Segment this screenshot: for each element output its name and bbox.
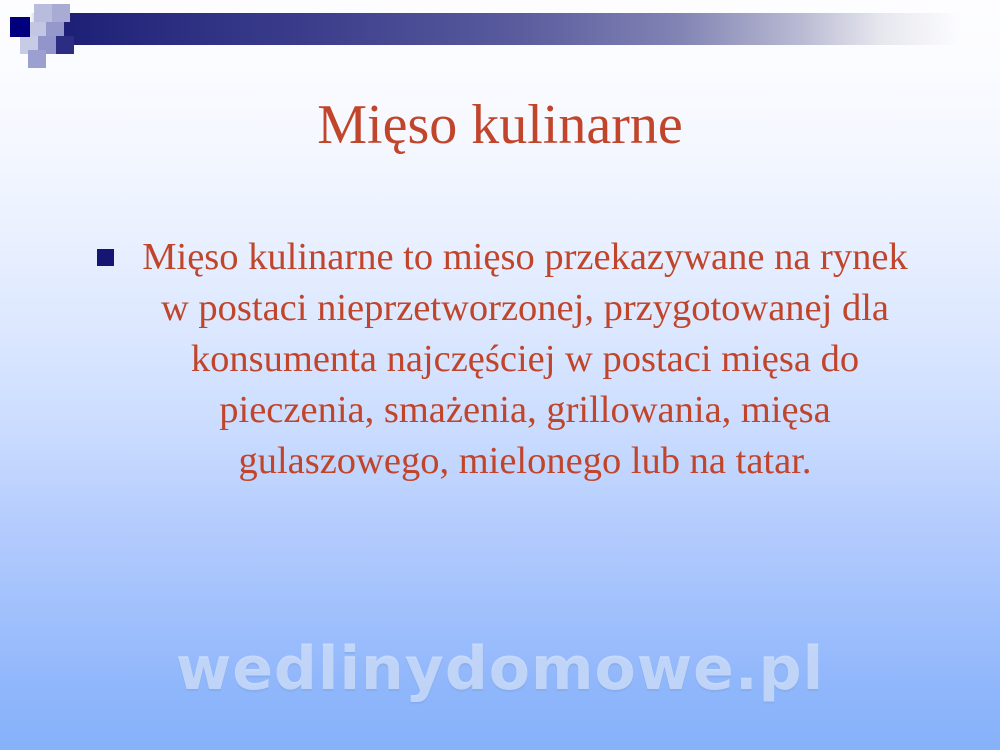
bullet-square-icon	[97, 249, 114, 266]
slide-body-text: Mięso kulinarne to mięso przekazywane na…	[88, 232, 924, 487]
slide-canvas: Mięso kulinarne Mięso kulinarne to mięso…	[0, 0, 1000, 750]
decorative-square	[34, 4, 52, 22]
decorative-square-accent	[10, 17, 30, 37]
decorative-square	[56, 36, 74, 54]
decorative-square	[52, 4, 70, 22]
watermark: wedlinydomowe.pl	[0, 633, 1000, 705]
header-band	[0, 13, 1000, 45]
slide-body: Mięso kulinarne to mięso przekazywane na…	[88, 232, 924, 487]
slide-title: Mięso kulinarne	[0, 92, 1000, 158]
decorative-square	[28, 50, 46, 68]
